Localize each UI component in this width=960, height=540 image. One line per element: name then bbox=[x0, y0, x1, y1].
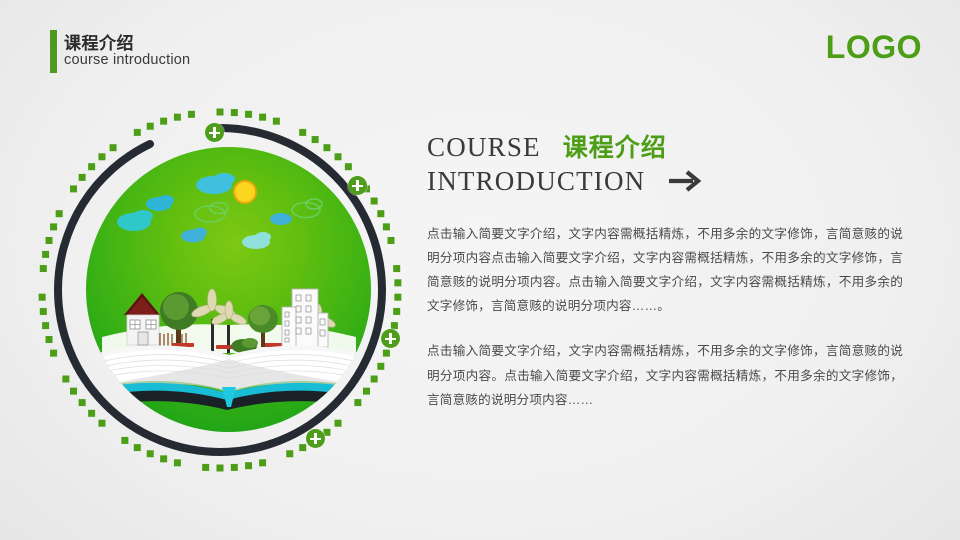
course-content: COURSE 课程介绍 INTRODUCTION 点击输入简要文字介绍，文字内容… bbox=[427, 132, 927, 412]
plus-marker-bottom[interactable] bbox=[306, 429, 325, 448]
plus-marker-top[interactable] bbox=[205, 123, 224, 142]
heading-course-label: COURSE bbox=[427, 132, 541, 164]
body-paragraph-2: 点击输入简要文字介绍，文字内容需概括精炼，不用多余的文字修饰，言简意赅的说明分项… bbox=[427, 339, 903, 412]
logo: LOGO bbox=[826, 29, 922, 66]
plus-marker-bottom-right[interactable] bbox=[381, 329, 400, 348]
section-heading: COURSE 课程介绍 INTRODUCTION bbox=[427, 132, 927, 198]
page-header: 课程介绍 course introduction LOGO bbox=[0, 0, 960, 92]
heading-chinese-label: 课程介绍 bbox=[563, 134, 667, 164]
heading-introduction-label: INTRODUCTION bbox=[427, 166, 645, 198]
body-paragraph-1: 点击输入简要文字介绍，文字内容需概括精炼，不用多余的文字修饰，言简意赅的说明分项… bbox=[427, 222, 903, 319]
house-illustration bbox=[124, 293, 160, 345]
page-title: 课程介绍 bbox=[64, 29, 134, 54]
plus-marker-right[interactable] bbox=[348, 176, 367, 195]
course-illustration bbox=[30, 100, 410, 480]
heading-line-2: INTRODUCTION bbox=[427, 164, 927, 198]
open-book-illustration bbox=[94, 267, 364, 412]
arrow-right-icon bbox=[667, 168, 705, 194]
green-globe bbox=[86, 147, 371, 432]
page-subtitle: course introduction bbox=[64, 52, 190, 68]
heading-line-1: COURSE 课程介绍 bbox=[427, 132, 927, 164]
header-accent-bar bbox=[50, 30, 57, 73]
